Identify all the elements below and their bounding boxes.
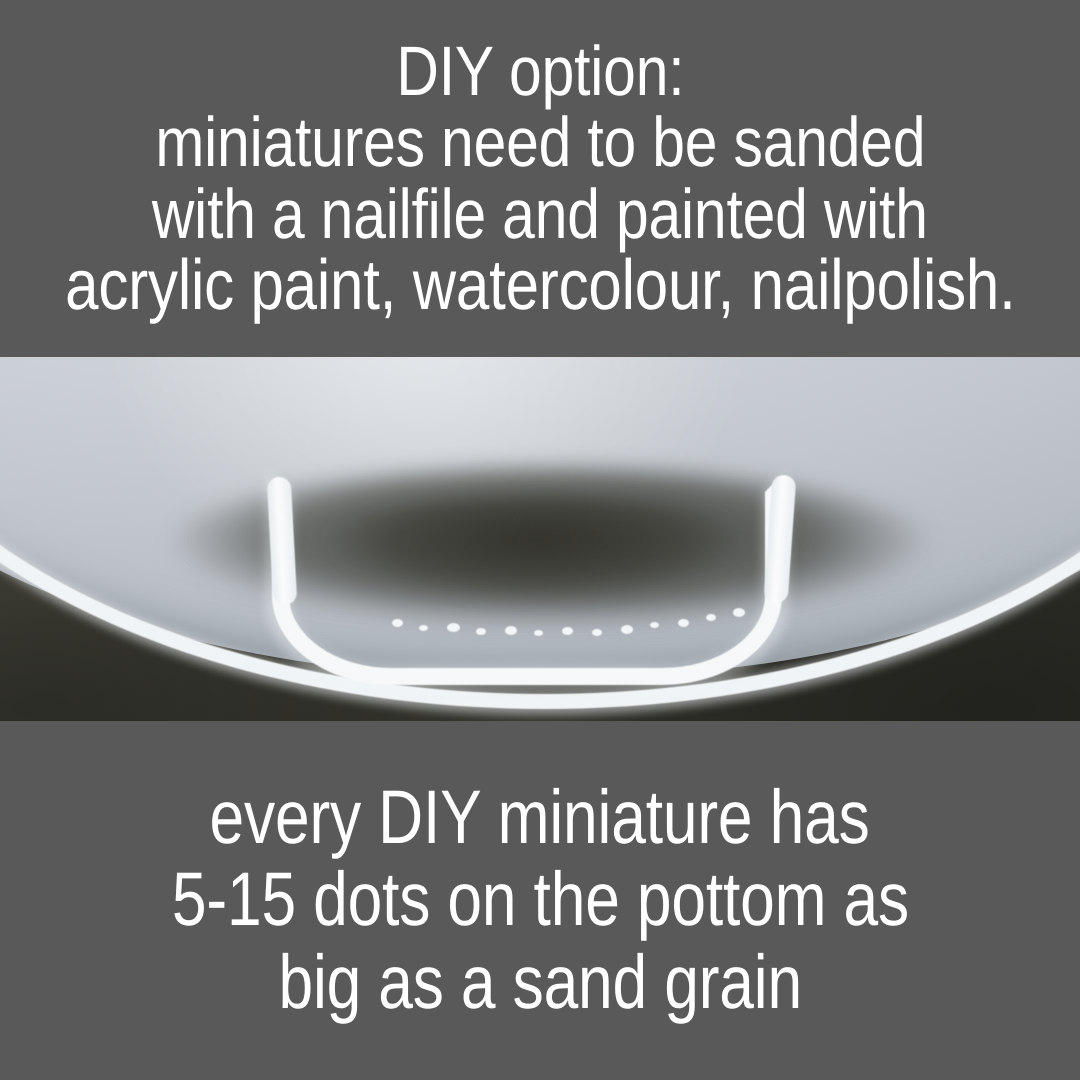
meme-image-canvas: DIY option: miniatures need to be sanded… bbox=[0, 0, 1080, 1080]
top-caption-line-1: DIY option: bbox=[396, 38, 684, 105]
photo-grain-overlay-secondary bbox=[0, 357, 1080, 721]
miniature-photo bbox=[0, 357, 1080, 721]
top-caption-line-3: with a nailfile and painted with bbox=[152, 181, 928, 248]
bottom-caption-band: every DIY miniature has 5-15 dots on the… bbox=[0, 721, 1080, 1080]
top-caption-band: DIY option: miniatures need to be sanded… bbox=[0, 0, 1080, 357]
bottom-caption-line-1: every DIY miniature has bbox=[210, 782, 870, 854]
top-caption-line-4: acrylic paint, watercolour, nailpolish. bbox=[65, 252, 1015, 319]
top-caption-line-2: miniatures need to be sanded bbox=[155, 109, 925, 176]
bottom-caption-line-2: 5-15 dots on the pottom as bbox=[171, 864, 908, 936]
bottom-caption-line-3: big as a sand grain bbox=[278, 947, 802, 1019]
